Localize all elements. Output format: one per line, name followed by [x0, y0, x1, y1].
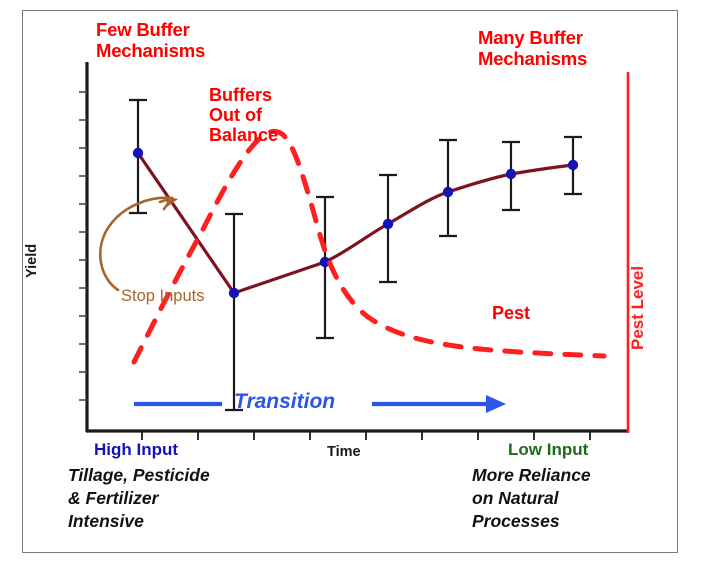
data-point	[506, 169, 516, 179]
annotation-many-buffer: Many Buffer Mechanisms	[478, 28, 587, 69]
axis-label-yield-text: Yield	[24, 244, 40, 278]
data-point	[383, 219, 393, 229]
axis-endpoint-low-input: Low Input	[508, 440, 588, 459]
error-bar	[225, 214, 243, 410]
axis-label-pest-level: Pest Level	[648, 330, 705, 350]
pest-curve	[134, 131, 604, 362]
stop-inputs-arrow	[100, 196, 178, 290]
annotation-stop-inputs: Stop Inputs	[121, 287, 204, 305]
axis-label-pest-level-text: Pest Level	[628, 266, 648, 350]
data-point	[133, 148, 143, 158]
caption-right: More Reliance on Natural Processes	[472, 464, 591, 533]
yield-markers	[133, 148, 578, 298]
data-point	[568, 160, 578, 170]
annotation-buffers-out-of-balance: Buffers Out of Balance	[209, 85, 278, 145]
axis-label-yield: Yield	[40, 262, 74, 278]
axis-label-time: Time	[327, 444, 361, 460]
data-point	[229, 288, 239, 298]
annotation-pest: Pest	[492, 303, 530, 323]
error-bars	[129, 100, 582, 410]
transition-arrowhead	[486, 395, 506, 413]
annotation-few-buffer: Few Buffer Mechanisms	[96, 20, 205, 61]
caption-left: Tillage, Pesticide & Fertilizer Intensiv…	[68, 464, 210, 533]
data-point	[443, 187, 453, 197]
annotation-transition: Transition	[234, 390, 335, 414]
axis-endpoint-high-input: High Input	[94, 440, 178, 459]
chart-figure: Few Buffer Mechanisms Many Buffer Mechan…	[0, 0, 705, 565]
